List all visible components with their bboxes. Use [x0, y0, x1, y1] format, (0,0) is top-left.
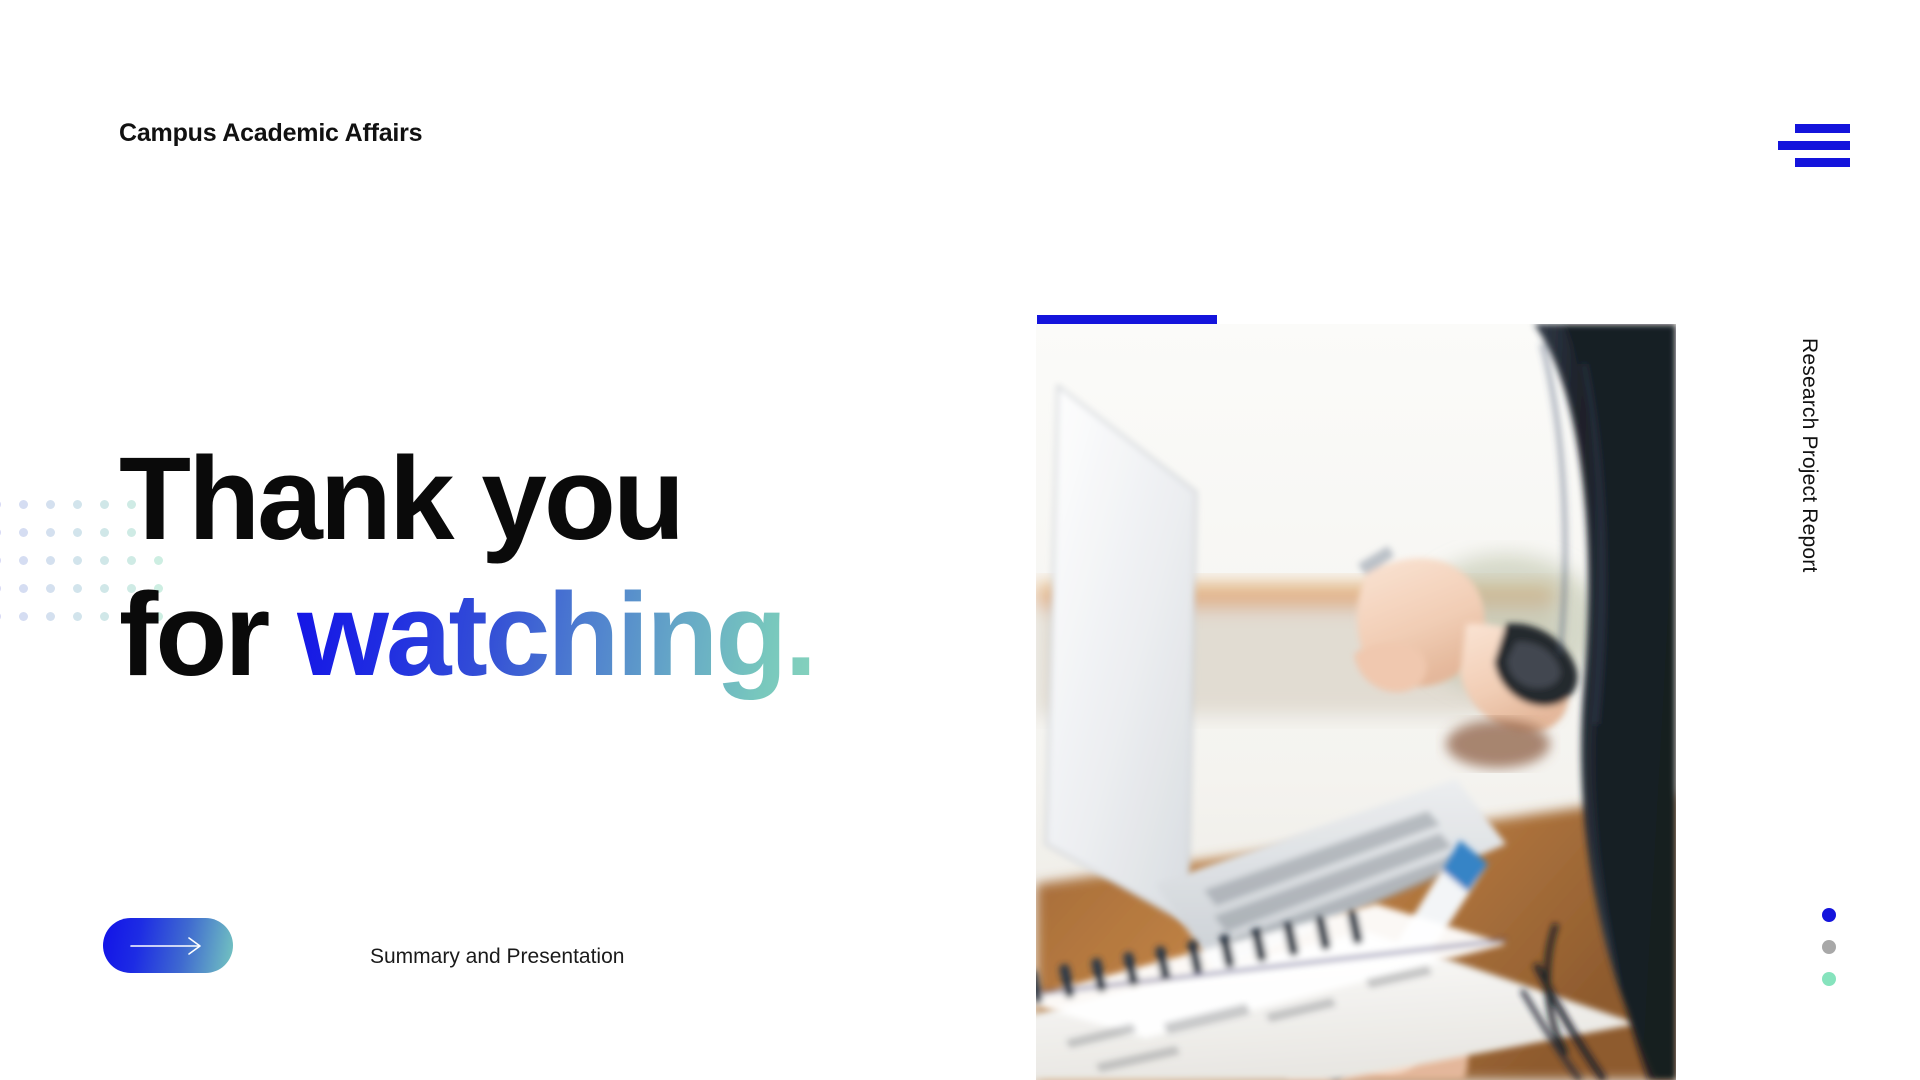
decor-dot — [73, 584, 82, 593]
decor-dot — [0, 528, 1, 537]
vertical-section-label: Research Project Report — [1797, 338, 1821, 573]
decor-dot — [46, 584, 55, 593]
decor-dot — [100, 612, 109, 621]
presentation-slide: Campus Academic Affairs Thank you for wa… — [0, 0, 1920, 1080]
continue-button[interactable] — [103, 918, 233, 973]
decor-dot — [0, 584, 1, 593]
decor-dot — [46, 528, 55, 537]
menu-bar-middle — [1778, 141, 1850, 150]
menu-bar-bottom — [1795, 158, 1850, 167]
hero-headline: Thank you for watching. — [119, 440, 814, 694]
slide-caption: Summary and Presentation — [370, 945, 624, 969]
decor-dot — [46, 612, 55, 621]
decor-dot — [19, 528, 28, 537]
decor-dot — [73, 612, 82, 621]
hero-headline-line2: for watching. — [119, 576, 814, 694]
decor-dot — [19, 500, 28, 509]
accent-bar — [1037, 315, 1217, 324]
menu-bar-top — [1795, 124, 1850, 133]
decor-dot — [100, 528, 109, 537]
decor-dot — [19, 612, 28, 621]
decor-dot — [19, 584, 28, 593]
decor-dot — [46, 556, 55, 565]
decor-dot — [73, 528, 82, 537]
decor-dot — [100, 584, 109, 593]
decor-dot — [73, 500, 82, 509]
hero-photo — [1036, 324, 1676, 1080]
decor-dot — [0, 612, 1, 621]
decor-dot — [46, 500, 55, 509]
hero-headline-gradient: watching. — [297, 569, 814, 701]
decor-dot — [100, 500, 109, 509]
decor-dot — [0, 556, 1, 565]
page-dot-3[interactable] — [1822, 972, 1836, 986]
decor-dot — [73, 556, 82, 565]
hero-headline-line1: Thank you — [119, 433, 682, 565]
decor-dot — [100, 556, 109, 565]
page-dot-2[interactable] — [1822, 940, 1836, 954]
page-title: Campus Academic Affairs — [119, 119, 422, 148]
decor-dot — [0, 500, 1, 509]
arrow-right-icon — [129, 936, 207, 956]
hero-headline-plain: for — [119, 569, 297, 701]
decor-dot — [19, 556, 28, 565]
page-dot-1[interactable] — [1822, 908, 1836, 922]
hamburger-menu-icon[interactable] — [1778, 124, 1850, 174]
page-indicator — [1822, 908, 1836, 986]
